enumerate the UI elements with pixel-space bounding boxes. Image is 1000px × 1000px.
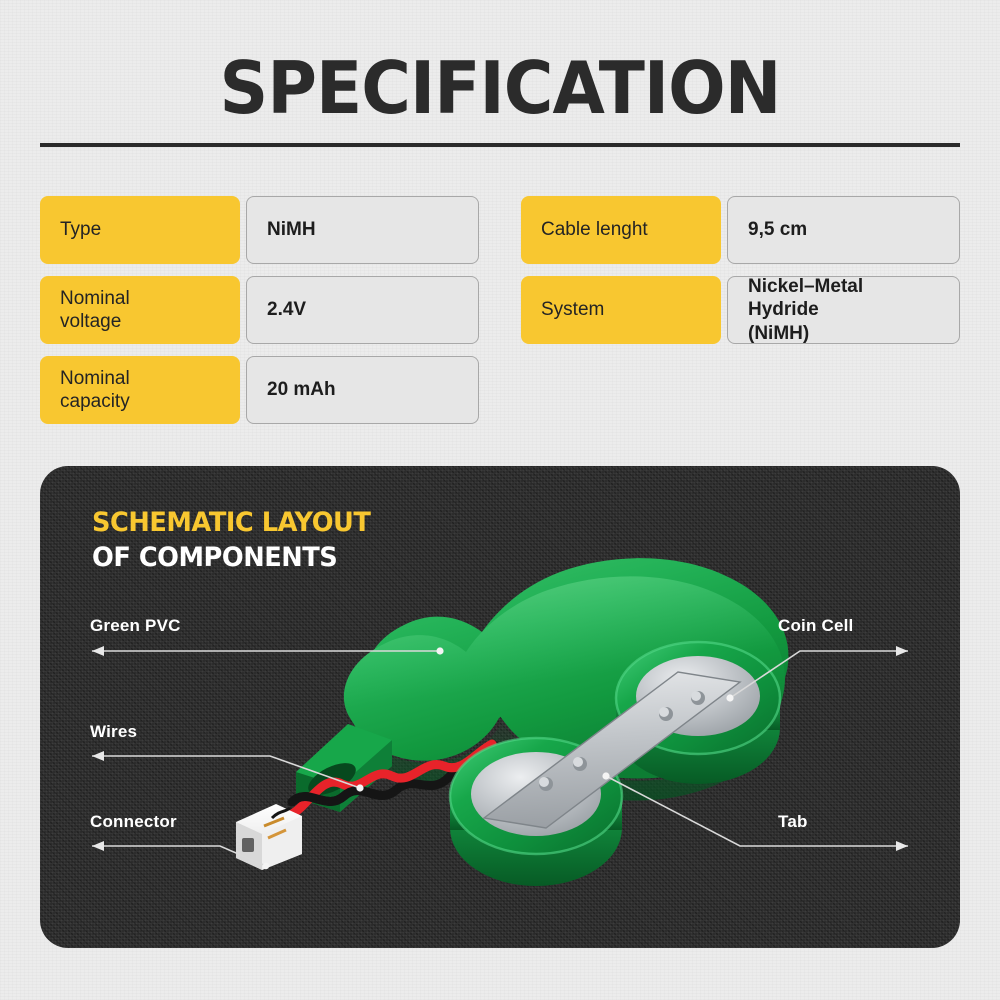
spec-value-system: Nickel–Metal Hydride (NiMH) — [727, 276, 960, 344]
schematic-panel: SCHEMATIC LAYOUT OF COMPONENTS — [40, 466, 960, 948]
callout-label-coin-cell: Coin Cell — [778, 616, 853, 636]
spec-value-nominal-voltage: 2.4V — [246, 276, 479, 344]
spec-value-line2: (NiMH) — [748, 323, 809, 344]
spec-label-line2: voltage — [60, 311, 121, 332]
spec-label-nominal-voltage: Nominal voltage — [40, 276, 240, 344]
spec-row-cable-lenght: Cable lenght 9,5 cm — [521, 196, 960, 264]
specification-table: Type NiMH Nominal voltage 2.4V Nominal c… — [40, 196, 960, 424]
spec-row-type: Type NiMH — [40, 196, 479, 264]
callout-label-tab: Tab — [778, 812, 808, 832]
title-divider — [40, 143, 960, 147]
callout-label-green-pvc: Green PVC — [90, 616, 181, 636]
spec-value-type: NiMH — [246, 196, 479, 264]
spec-label-line1: Nominal — [60, 288, 130, 309]
spec-column-right: Cable lenght 9,5 cm System Nickel–Metal … — [521, 196, 960, 424]
spec-row-system: System Nickel–Metal Hydride (NiMH) — [521, 276, 960, 344]
spec-label-nominal-capacity: Nominal capacity — [40, 356, 240, 424]
spec-label-line1: Nominal — [60, 368, 130, 389]
spec-row-nominal-capacity: Nominal capacity 20 mAh — [40, 356, 479, 424]
callout-leader-lines — [40, 466, 960, 948]
spec-value-cable-lenght: 9,5 cm — [727, 196, 960, 264]
callout-label-wires: Wires — [90, 722, 137, 742]
spec-label-cable-lenght: Cable lenght — [521, 196, 721, 264]
spec-column-left: Type NiMH Nominal voltage 2.4V Nominal c… — [40, 196, 479, 424]
spec-value-line1: Nickel–Metal Hydride — [748, 276, 863, 320]
spec-label-system: System — [521, 276, 721, 344]
spec-label-line2: capacity — [60, 391, 130, 412]
callout-label-connector: Connector — [90, 812, 177, 832]
spec-value-nominal-capacity: 20 mAh — [246, 356, 479, 424]
page-title: SPECIFICATION — [30, 46, 970, 130]
spec-label-type: Type — [40, 196, 240, 264]
spec-row-nominal-voltage: Nominal voltage 2.4V — [40, 276, 479, 344]
